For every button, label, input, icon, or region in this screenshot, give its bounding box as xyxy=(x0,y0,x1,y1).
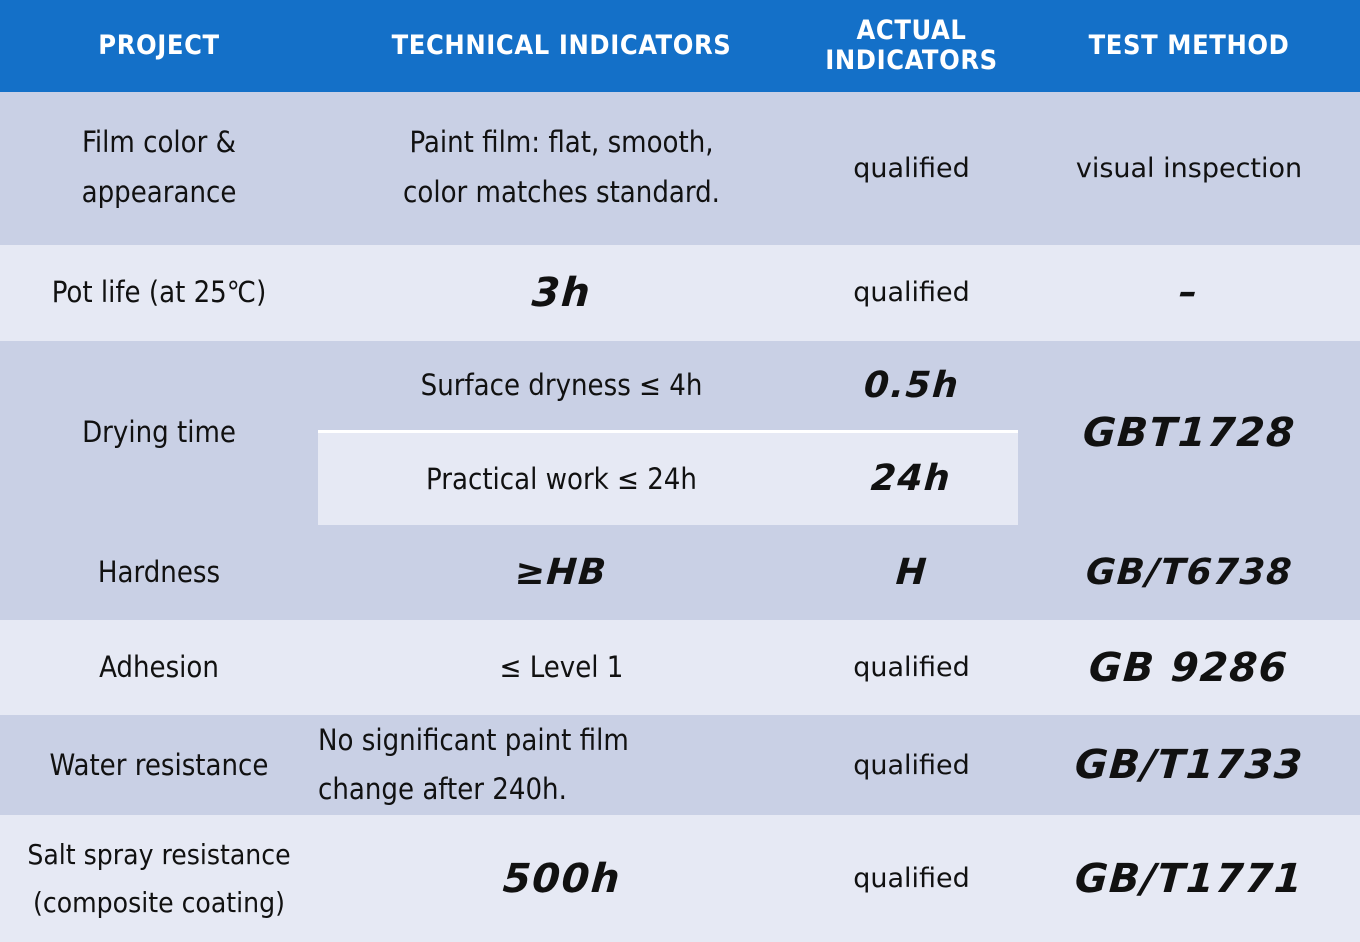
table-row: Pot life (at 25℃) 3h qualified GBT1728 – xyxy=(0,245,1360,341)
method-dash: – xyxy=(1177,261,1201,324)
cell-actual-indicator: qualified xyxy=(805,245,1018,341)
cell-project: Hardness xyxy=(0,525,318,620)
technical-line2: color matches standard. xyxy=(403,175,720,209)
project-line2: (composite coating) xyxy=(33,886,285,919)
cell-actual-indicator: 24h xyxy=(805,433,1018,524)
table-row: Salt spray resistance (composite coating… xyxy=(0,815,1360,942)
table-row: Adhesion ≤ Level 1 qualified GB 9286 xyxy=(0,620,1360,715)
cell-project: Salt spray resistance (composite coating… xyxy=(0,815,318,942)
actual-value: qualified xyxy=(853,750,970,781)
cell-test-method: GB/T1771 xyxy=(1018,815,1360,942)
project-label: Hardness xyxy=(98,555,220,589)
technical-line1: No significant paint film xyxy=(318,723,629,757)
cell-technical-indicator: Surface dryness ≤ 4h xyxy=(318,341,805,433)
table-header-row: PROJECT TECHNICAL INDICATORS ACTUAL INDI… xyxy=(0,0,1360,92)
project-label: Water resistance xyxy=(50,748,269,782)
header-actual-indicators: ACTUAL INDICATORS xyxy=(805,0,1018,92)
table-row: Drying time Surface dryness ≤ 4h 0.5h GB… xyxy=(0,341,1360,433)
header-test-method: TEST METHOD xyxy=(1018,0,1360,92)
cell-technical-indicator: 500h xyxy=(318,815,805,942)
cell-actual-indicator: 0.5h xyxy=(805,341,1018,433)
actual-value: qualified xyxy=(853,652,970,683)
header-test-method-label: TEST METHOD xyxy=(1089,30,1290,61)
cell-test-method: GB 9286 xyxy=(1018,620,1360,715)
project-line1: Salt spray resistance xyxy=(27,838,290,871)
cell-test-method: GBT1728 – xyxy=(1018,245,1360,341)
cell-technical-indicator: Paint film: flat, smooth, color matches … xyxy=(318,92,805,245)
header-technical-indicators-label: TECHNICAL INDICATORS xyxy=(392,30,732,61)
cell-project: Drying time xyxy=(0,341,318,525)
project-line2: appearance xyxy=(82,175,237,209)
project-line1: Film color & xyxy=(82,125,236,159)
technical-value: Practical work ≤ 24h xyxy=(426,462,697,496)
table-row: Film color & appearance Paint film: flat… xyxy=(0,92,1360,245)
cell-project: Adhesion xyxy=(0,620,318,715)
project-label: Adhesion xyxy=(99,650,219,684)
actual-value: qualified xyxy=(853,863,970,894)
project-label: Pot life (at 25℃) xyxy=(52,275,267,309)
cell-actual-indicator: H xyxy=(805,525,1018,620)
header-project: PROJECT xyxy=(0,0,318,92)
cell-test-method: visual inspection xyxy=(1018,92,1360,245)
technical-line2: change after 240h. xyxy=(318,772,567,806)
technical-value: ≤ Level 1 xyxy=(500,650,624,684)
cell-technical-indicator: No significant paint film change after 2… xyxy=(318,715,805,815)
actual-value: qualified xyxy=(853,153,970,184)
actual-value: H xyxy=(893,541,929,604)
cell-project: Film color & appearance xyxy=(0,92,318,245)
cell-project: Pot life (at 25℃) xyxy=(0,245,318,341)
technical-value: 500h xyxy=(500,844,623,914)
technical-value: 3h xyxy=(529,258,593,328)
cell-project: Water resistance xyxy=(0,715,318,815)
actual-value: 24h xyxy=(869,447,954,510)
cell-test-method: GB/T1733 xyxy=(1018,715,1360,815)
cell-actual-indicator: qualified xyxy=(805,715,1018,815)
technical-line1: Paint film: flat, smooth, xyxy=(409,125,713,159)
header-actual-indicators-line1: ACTUAL xyxy=(857,15,967,46)
cell-test-method: GBT1728 xyxy=(1018,341,1360,525)
table-row: Water resistance No significant paint fi… xyxy=(0,715,1360,815)
method-value: GB/T6738 xyxy=(1083,541,1294,604)
method-value: GB/T1733 xyxy=(1072,730,1305,800)
method-value: GBT1728 xyxy=(1080,398,1297,468)
technical-value: Surface dryness ≤ 4h xyxy=(421,368,703,402)
table-row: Hardness ≥HB H GB/T6738 xyxy=(0,525,1360,620)
technical-specification-table: PROJECT TECHNICAL INDICATORS ACTUAL INDI… xyxy=(0,0,1360,942)
header-actual-indicators-line2: INDICATORS xyxy=(825,45,998,76)
cell-test-method: GB/T6738 xyxy=(1018,525,1360,620)
cell-actual-indicator: qualified xyxy=(805,92,1018,245)
project-label: Drying time xyxy=(82,415,236,449)
cell-technical-indicator: ≤ Level 1 xyxy=(318,620,805,715)
method-value: GB 9286 xyxy=(1087,633,1291,703)
cell-technical-indicator: Practical work ≤ 24h xyxy=(318,433,805,524)
cell-technical-indicator: 3h xyxy=(318,245,805,341)
cell-actual-indicator: qualified xyxy=(805,620,1018,715)
actual-value: 0.5h xyxy=(862,354,962,417)
header-technical-indicators: TECHNICAL INDICATORS xyxy=(318,0,805,92)
method-value: GB/T1771 xyxy=(1072,844,1305,914)
header-project-label: PROJECT xyxy=(98,30,219,61)
actual-value: qualified xyxy=(853,277,970,308)
cell-actual-indicator: qualified xyxy=(805,815,1018,942)
technical-value: ≥HB xyxy=(513,541,610,604)
cell-technical-indicator: ≥HB xyxy=(318,525,805,620)
method-value: visual inspection xyxy=(1076,153,1302,184)
